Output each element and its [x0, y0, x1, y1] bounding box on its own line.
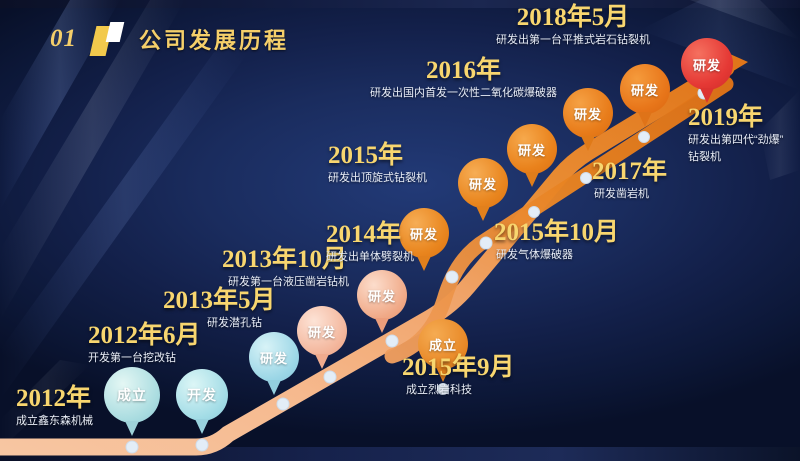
label-2016: 2016年 研发出国内首发一次性二氧化碳爆破器	[370, 58, 557, 102]
label-2015-10: 2015年10月 研发气体爆破器	[494, 220, 619, 264]
milestone-desc: 开发第一台挖改钻	[88, 351, 201, 367]
pin-badge: 研发	[458, 158, 508, 208]
milestone-desc: 研发第一台液压凿岩钻机	[222, 275, 349, 291]
milestone-year: 2012年	[16, 386, 93, 412]
pin-2015-10[interactable]: 研发	[458, 158, 508, 208]
pin-badge: 研发	[507, 124, 557, 174]
milestone-desc: 研发凿岩机	[592, 187, 667, 203]
pin-2016[interactable]: 研发	[507, 124, 557, 174]
milestone-year: 2013年5月	[163, 288, 276, 314]
pin-2012[interactable]: 成立	[104, 367, 160, 423]
milestone-year: 2017年	[592, 159, 667, 185]
label-2017: 2017年 研发凿岩机	[592, 159, 667, 203]
pin-2012-06[interactable]: 开发	[176, 369, 228, 421]
milestone-year: 2016年	[370, 58, 557, 84]
pin-badge: 研发	[249, 332, 299, 382]
milestone-year: 2019年	[688, 105, 783, 131]
label-2013-05: 2013年5月 研发潜孔钻	[163, 288, 276, 332]
pin-tail	[700, 88, 714, 103]
pin-badge: 开发	[176, 369, 228, 421]
milestone-desc: 研发出第四代“劲爆”	[688, 133, 783, 149]
pin-2013-10[interactable]: 研发	[297, 306, 347, 356]
pin-tail	[375, 318, 389, 333]
pin-tail	[581, 136, 595, 151]
pin-tail	[125, 421, 139, 436]
pin-tail	[195, 419, 209, 434]
pin-tail	[476, 206, 490, 221]
timeline-infographic: 01 公司发展历程	[0, 0, 800, 461]
pin-tail	[638, 112, 652, 127]
label-2019: 2019年 研发出第四代“劲爆” 钻裂机	[688, 105, 783, 166]
milestone-year: 2018年5月	[496, 5, 650, 31]
milestone-year: 2015年9月	[402, 355, 515, 381]
milestone-desc-line2: 钻裂机	[688, 150, 783, 166]
label-2014: 2014年 研发出单体劈裂机	[326, 222, 414, 266]
pin-badge: 研发	[563, 88, 613, 138]
pin-badge: 研发	[297, 306, 347, 356]
pin-badge: 研发	[681, 38, 733, 90]
label-2018-05: 2018年5月 研发出第一台平推式岩石钻裂机	[496, 5, 650, 49]
milestone-desc: 研发潜孔钻	[163, 316, 276, 332]
milestone-desc: 研发出国内首发一次性二氧化碳爆破器	[370, 86, 557, 102]
pin-tail	[417, 256, 431, 271]
pin-badge: 研发	[357, 270, 407, 320]
milestone-year: 2015年	[328, 143, 427, 169]
pin-tail	[315, 354, 329, 369]
label-2015-09: 2015年9月 成立烈岩科技	[402, 355, 515, 399]
pin-tail	[525, 172, 539, 187]
pin-2014[interactable]: 研发	[357, 270, 407, 320]
label-2012: 2012年 成立鑫东森机械	[16, 386, 93, 430]
pin-2017[interactable]: 研发	[563, 88, 613, 138]
milestone-desc: 成立烈岩科技	[402, 383, 515, 399]
pin-tail	[267, 380, 281, 395]
pin-2018-05[interactable]: 研发	[620, 64, 670, 114]
pin-badge: 研发	[620, 64, 670, 114]
milestone-desc: 研发出单体劈裂机	[326, 250, 414, 266]
pin-2019[interactable]: 研发	[681, 38, 733, 90]
milestone-desc: 研发出顶旋式钻裂机	[328, 171, 427, 187]
milestone-year: 2014年	[326, 222, 414, 248]
milestone-desc: 研发气体爆破器	[494, 248, 619, 264]
milestone-desc: 研发出第一台平推式岩石钻裂机	[496, 33, 650, 49]
milestone-desc: 成立鑫东森机械	[16, 414, 93, 430]
pin-2013-05[interactable]: 研发	[249, 332, 299, 382]
pin-badge: 成立	[104, 367, 160, 423]
label-2015: 2015年 研发出顶旋式钻裂机	[328, 143, 427, 187]
milestone-year: 2015年10月	[494, 220, 619, 246]
